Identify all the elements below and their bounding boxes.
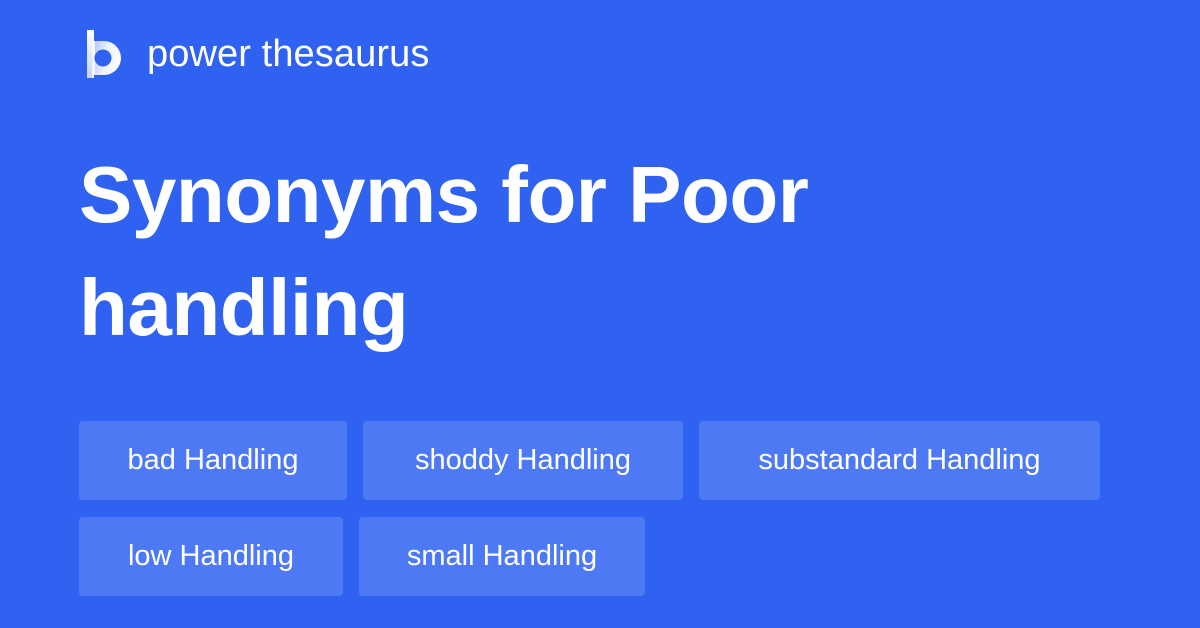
power-thesaurus-b-logo-icon	[79, 30, 123, 78]
brand-logo[interactable]: power thesaurus	[79, 27, 429, 81]
brand-name: power thesaurus	[147, 35, 429, 73]
share-card: power thesaurus Synonyms for Poor handli…	[0, 0, 1200, 628]
page-title: Synonyms for Poor handling	[79, 138, 939, 364]
synonym-chip[interactable]: small Handling	[359, 517, 645, 596]
synonym-chip[interactable]: low Handling	[79, 517, 343, 596]
synonym-chip[interactable]: shoddy Handling	[363, 421, 683, 500]
synonym-chip-list: bad Handling shoddy Handling substandard…	[79, 421, 1139, 596]
synonym-chip[interactable]: bad Handling	[79, 421, 347, 500]
synonym-chip[interactable]: substandard Handling	[699, 421, 1100, 500]
